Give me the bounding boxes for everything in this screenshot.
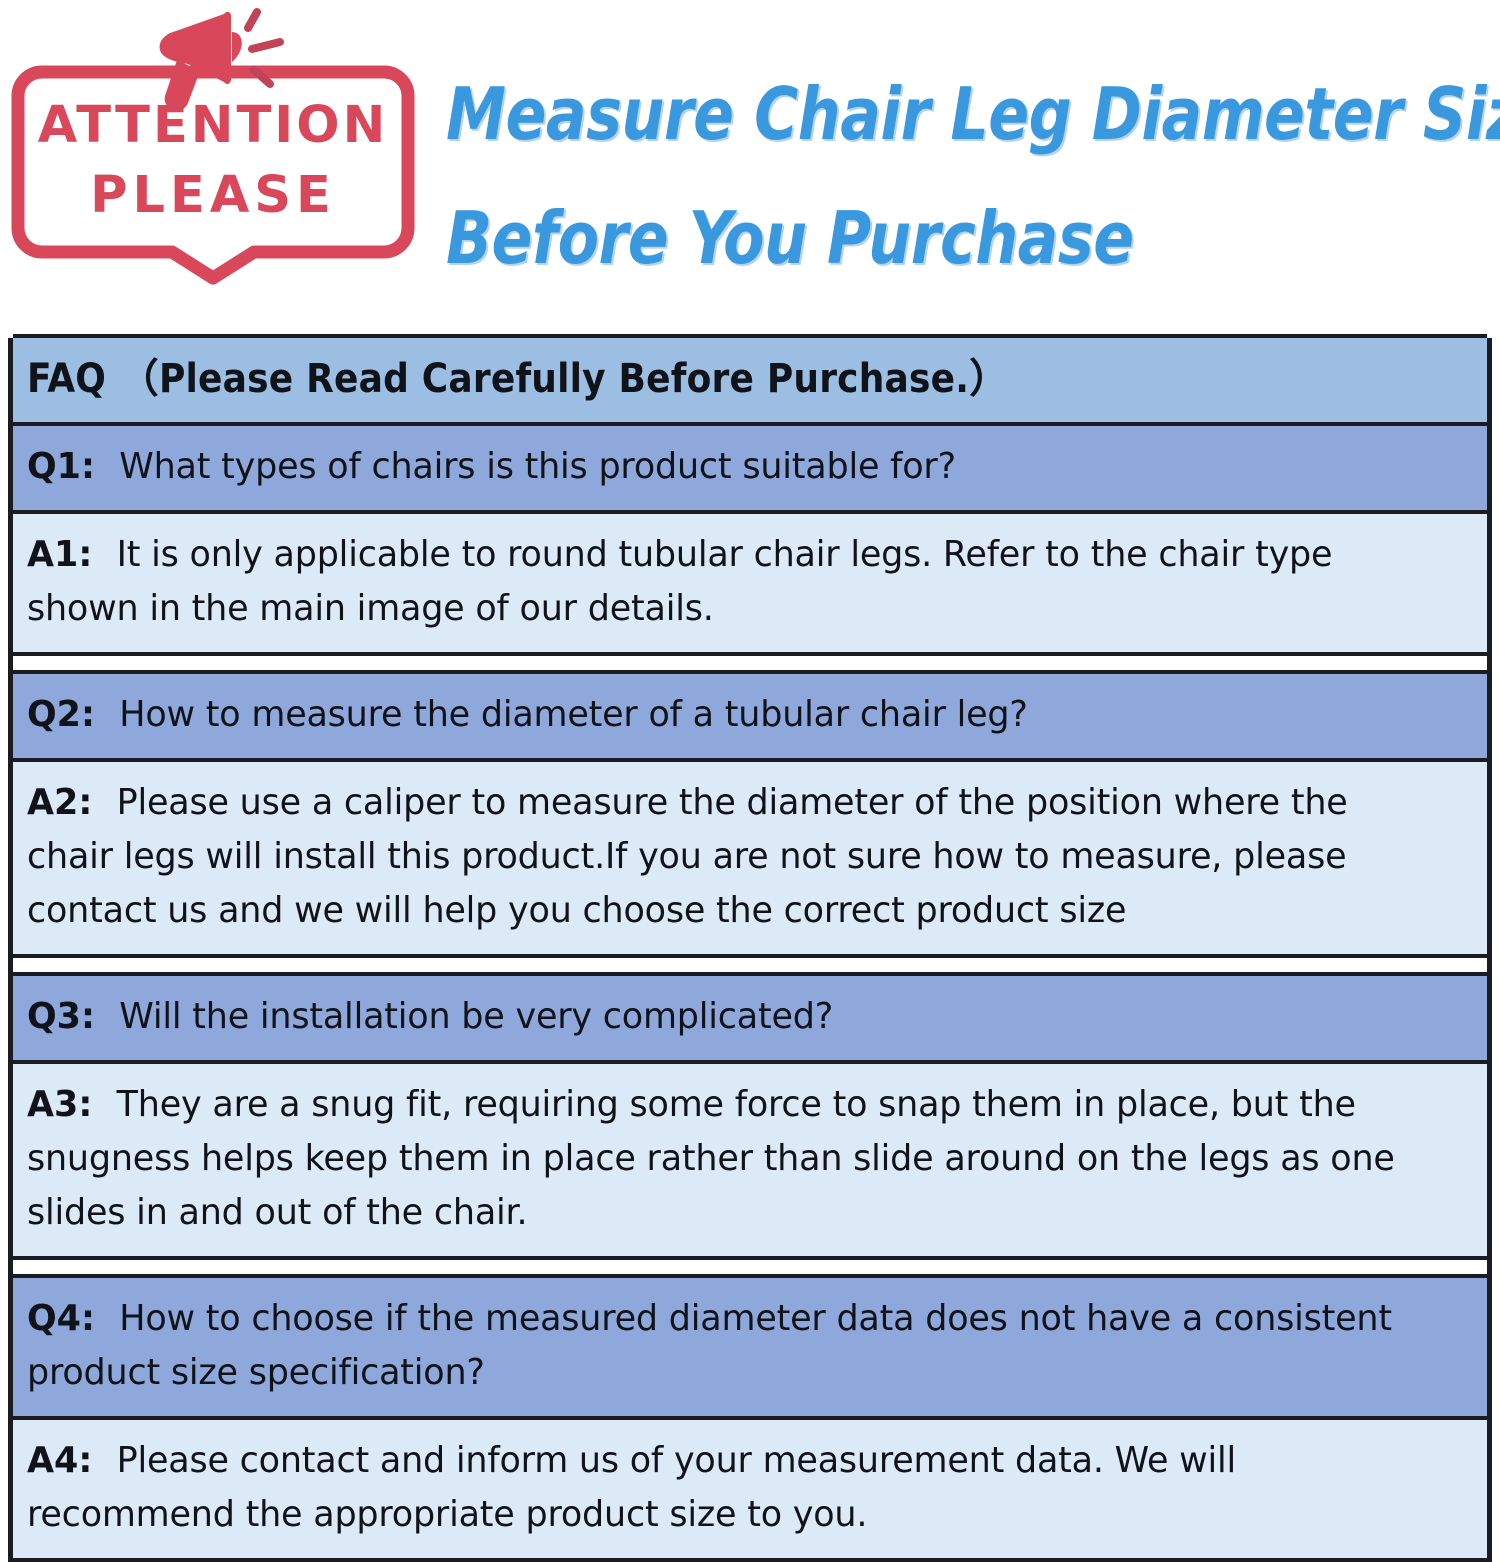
faq-question-row-2: Q2:How to measure the diameter of a tubu… [13,670,1487,762]
q4-label: Q4: [27,1298,119,1339]
a3-label: A3: [27,1084,117,1125]
a1-label: A1: [27,534,117,575]
q2-text: How to measure the diameter of a tubular… [119,694,1027,735]
q2-label: Q2: [27,694,119,735]
a4-text: Please contact and inform us of your mea… [27,1440,1236,1535]
q3-text: Will the installation be very complicate… [119,996,833,1037]
a3-text: They are a snug fit, requiring some forc… [27,1084,1395,1233]
faq-question-row-4: Q4:How to choose if the measured diamete… [13,1274,1487,1420]
headline-line-1: Measure Chair Leg Diameter Size [446,52,1419,176]
a4-label: A4: [27,1440,117,1481]
headline-line-2: Before You Purchase [446,176,1419,300]
faq-answer-row-4: A4:Please contact and inform us of your … [13,1416,1487,1562]
q1-text: What types of chairs is this product sui… [119,446,956,487]
faq-table: FAQ （Please Read Carefully Before Purcha… [8,338,1492,1562]
faq-question-row-1: Q1:What types of chairs is this product … [13,422,1487,514]
megaphone-icon [140,2,315,117]
faq-answer-row-1: A1:It is only applicable to round tubula… [13,510,1487,656]
q1-label: Q1: [27,446,119,487]
a1-text: It is only applicable to round tubular c… [27,534,1332,629]
faq-answer-row-3: A3:They are a snug fit, requiring some f… [13,1060,1487,1260]
page-headline: Measure Chair Leg Diameter Size Before Y… [446,52,1492,300]
attention-badge-line2: PLEASE [8,158,418,234]
faq-header-text: FAQ （Please Read Carefully Before Purcha… [27,356,1471,402]
a2-label: A2: [27,782,117,823]
q4-text: How to choose if the measured diameter d… [27,1298,1392,1393]
q3-label: Q3: [27,996,119,1037]
a2-text: Please use a caliper to measure the diam… [27,782,1348,931]
faq-table-header-row: FAQ （Please Read Carefully Before Purcha… [13,334,1487,426]
faq-answer-row-2: A2:Please use a caliper to measure the d… [13,758,1487,958]
attention-banner: ATTENTION PLEASE Measure Chair Leg Diame… [0,0,1500,330]
faq-question-row-3: Q3:Will the installation be very complic… [13,972,1487,1064]
